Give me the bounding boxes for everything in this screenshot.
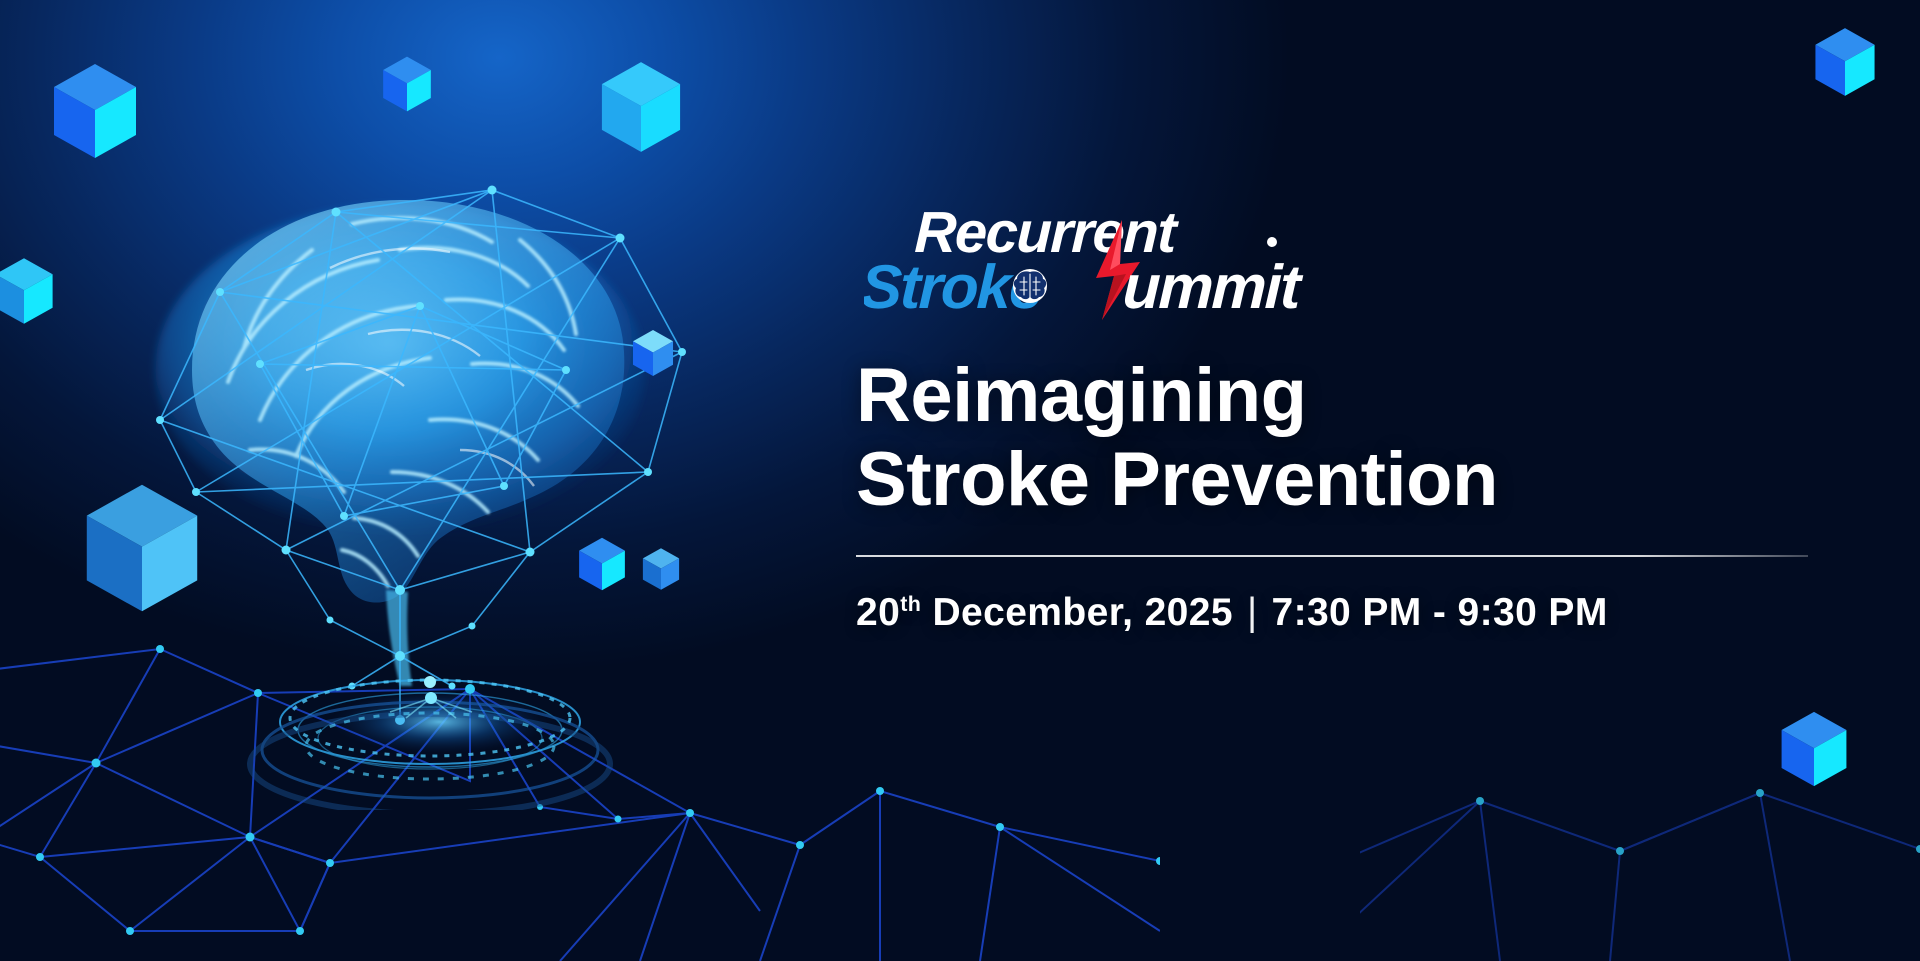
logo-word-summit: ummit [1122,253,1305,322]
cube-meta-left [642,546,680,597]
cube-far-right-top [1814,26,1876,103]
logo-dot-accent [1267,237,1277,247]
event-datetime: 20th December, 2025|7:30 PM - 9:30 PM [856,591,1816,635]
event-banner: Recurrent Stroke [0,0,1920,961]
content-column: Recurrent Stroke [856,196,1816,635]
brain-icon [1013,269,1047,303]
event-date-ordinal: th [900,592,921,616]
cube-left-mid [0,256,54,331]
event-date-rest: December, 2025 [921,591,1233,634]
hud-circular-platform [230,660,630,810]
divider [856,555,1808,557]
cube-bottom-right [1780,710,1848,793]
cube-left-large [84,482,200,619]
summit-logo: Recurrent Stroke [864,196,1384,328]
cube-upper-right [600,60,682,159]
cube-top-left [52,62,138,165]
cube-headline-left [632,328,674,383]
headline-line-2: Stroke Prevention [856,438,1816,522]
headline-line-1: Reimagining [856,353,1307,438]
page-title: Reimagining Stroke Prevention [856,354,1816,521]
event-time: 7:30 PM - 9:30 PM [1271,591,1607,634]
cube-upper-mid [382,55,432,118]
brain-network-illustration [100,120,720,740]
cube-center-small [578,536,626,597]
datetime-separator: | [1233,591,1272,635]
event-date-day: 20 [856,591,900,634]
